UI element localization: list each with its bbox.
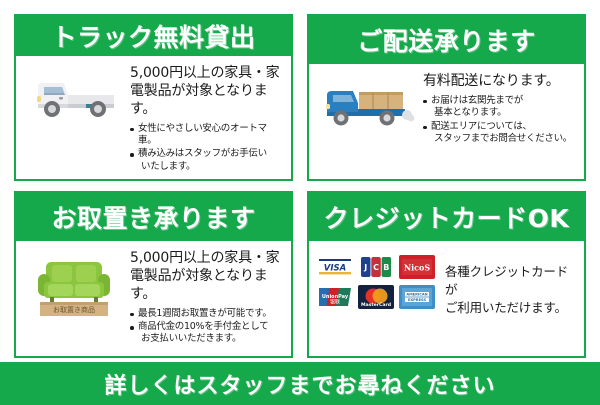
- panel-body-credit-card: VISA J C B: [309, 241, 584, 356]
- list-item: お届けは玄関先までが 基本となります。: [423, 95, 574, 120]
- bullet-line-1: 女性にやさしい安心のオートマ車。: [138, 123, 267, 146]
- panel-layaway: お取置き承ります: [14, 191, 293, 358]
- bullet-line-2: いたします。: [138, 161, 281, 173]
- credit-card-description: 各種クレジットカードが ご利用いただけます。: [441, 249, 578, 317]
- svg-text:C: C: [373, 263, 379, 272]
- footer-text: 詳しくはスタッフまでお尋ねください: [104, 368, 495, 400]
- credit-card-logo-grid: VISA J C B: [317, 249, 435, 309]
- bullet-line-2: スタッフまでお問合せください。: [431, 133, 574, 145]
- svg-text:EXPRESS: EXPRESS: [408, 298, 427, 302]
- panel-copy-delivery: 有料配送になります。 お届けは玄関先までが 基本となります。 配送エリアについて…: [423, 71, 578, 146]
- jcb-icon: J C B: [358, 255, 394, 279]
- bullet-line-1: お届けは玄関先までが: [431, 95, 523, 106]
- panel-header-credit-card: クレジットカードOK: [309, 193, 584, 241]
- bullet-line-2: 基本となります。: [431, 107, 574, 119]
- visa-icon: VISA: [317, 255, 353, 279]
- panel-header-delivery: ご配送承ります: [309, 16, 584, 64]
- white-kei-truck-icon: [22, 63, 126, 125]
- bullet-list-layaway: 最長1週間お取置きが可能です。 商品代金の10%を手付金として お支払いいただき…: [130, 308, 281, 346]
- bullet-line-2: お支払いいただきます。: [138, 333, 281, 345]
- svg-text:银联: 银联: [330, 299, 340, 306]
- svg-text:AMERICAN: AMERICAN: [406, 293, 427, 297]
- green-sofa-icon: お取置き商品: [22, 248, 126, 318]
- list-item: 積み込みはスタッフがお手伝い いたします。: [130, 148, 281, 173]
- list-item: 最長1週間お取置きが可能です。: [130, 308, 281, 320]
- bullet-line-1: 配送エリアについては、: [431, 121, 532, 132]
- panel-copy-layaway: 5,000円以上の家具・家電製品が対象となります。 最長1週間お取置きが可能です…: [130, 248, 285, 347]
- panel-credit-card: クレジットカードOK VISA: [307, 191, 586, 358]
- blue-delivery-truck-icon: [315, 71, 419, 133]
- panel-grid: トラック無料貸出: [0, 0, 600, 358]
- panel-header-layaway: お取置き承ります: [16, 193, 291, 241]
- credit-card-text-line-1: 各種クレジットカードが: [445, 263, 578, 299]
- mastercard-icon: MasterCard: [358, 285, 394, 309]
- panel-body-layaway: お取置き商品 5,000円以上の家具・家電製品が対象となります。 最長1週間お取…: [16, 241, 291, 356]
- panel-body-truck-rental: 5,000円以上の家具・家電製品が対象となります。 女性にやさしい安心のオートマ…: [16, 56, 291, 179]
- panel-delivery: ご配送承ります: [307, 14, 586, 181]
- panel-lead-delivery: 有料配送になります。: [423, 73, 574, 91]
- panel-lead-layaway: 5,000円以上の家具・家電製品が対象となります。: [130, 250, 281, 304]
- footer-banner: 詳しくはスタッフまでお尋ねください: [0, 362, 600, 405]
- credit-card-text-line-2: ご利用いただけます。: [445, 299, 578, 317]
- svg-text:B: B: [383, 263, 389, 272]
- amex-icon: AMERICAN EXPRESS: [399, 285, 435, 309]
- bullet-line-1: 商品代金の10%を手付金として: [138, 321, 268, 332]
- bullet-list-delivery: お届けは玄関先までが 基本となります。 配送エリアについては、 スタッフまでお問…: [423, 95, 574, 145]
- list-item: 女性にやさしい安心のオートマ車。: [130, 123, 281, 148]
- panel-copy-truck-rental: 5,000円以上の家具・家電製品が対象となります。 女性にやさしい安心のオートマ…: [130, 63, 285, 174]
- unionpay-icon: UnionPay 银联: [317, 285, 353, 309]
- list-item: 商品代金の10%を手付金として お支払いいただきます。: [130, 321, 281, 346]
- svg-text:MasterCard: MasterCard: [361, 302, 391, 308]
- bullet-line-1: 積み込みはスタッフがお手伝い: [138, 148, 267, 159]
- svg-text:J: J: [363, 263, 367, 272]
- panel-header-truck-rental: トラック無料貸出: [16, 16, 291, 56]
- bullet-line-1: 最長1週間お取置きが可能です。: [138, 308, 272, 319]
- list-item: 配送エリアについては、 スタッフまでお問合せください。: [423, 121, 574, 146]
- nicos-icon: NicoS: [399, 255, 435, 279]
- panel-lead-truck-rental: 5,000円以上の家具・家電製品が対象となります。: [130, 65, 281, 119]
- service-poster: トラック無料貸出: [0, 0, 600, 405]
- layaway-tag-label: お取置き商品: [53, 305, 95, 314]
- panel-body-delivery: 有料配送になります。 お届けは玄関先までが 基本となります。 配送エリアについて…: [309, 64, 584, 179]
- panel-truck-rental: トラック無料貸出: [14, 14, 293, 181]
- bullet-list-truck-rental: 女性にやさしい安心のオートマ車。 積み込みはスタッフがお手伝い いたします。: [130, 123, 281, 173]
- svg-text:NicoS: NicoS: [404, 263, 431, 273]
